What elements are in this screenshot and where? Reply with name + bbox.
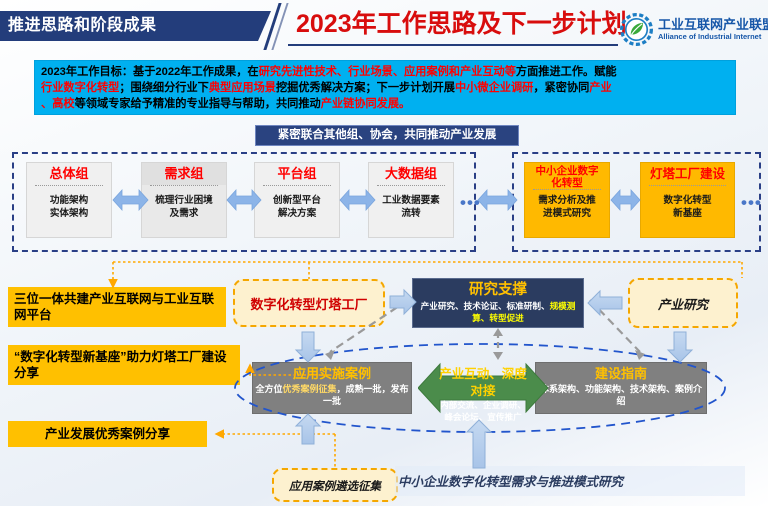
- group-box-overall[interactable]: 总体组 功能架构 实体架构: [26, 162, 112, 238]
- research-support-subtitle: 产业研究、技术论证、标准研制、规模测算、转型促进: [413, 300, 583, 324]
- gray-arrow-head-up: [493, 328, 503, 336]
- green-arrow-title: 产业互动、深度对接: [438, 366, 528, 400]
- group-box-platform[interactable]: 平台组 创新型平台 解决方案: [254, 162, 340, 238]
- green-arrow-sub: 内部交流、企业调研、峰会论坛、宣传推广: [438, 400, 528, 423]
- goal-l1-a: 2023年工作目标：基于2022年工作成果，在: [41, 66, 259, 78]
- group-body: 创新型平台 解决方案: [255, 186, 339, 220]
- group-body: 数字化转型 新基座: [641, 186, 734, 220]
- goal-l2-hl1: 行业数字化转型: [41, 82, 119, 94]
- gear-leaf-logo-icon: [620, 13, 653, 46]
- gray-box-title: 应用实施案例: [253, 363, 411, 383]
- g1-sub-a: 全方位: [255, 384, 282, 394]
- slide-canvas: 推进思路和阶段成果 2023年工作思路及下一步计划 工业互联网产业联盟 Alli…: [0, 0, 768, 506]
- group-title: 灯塔工厂建设: [641, 163, 734, 185]
- node-case-selection[interactable]: 应用案例遴选征集: [272, 468, 398, 502]
- yellow-bar-platform-coconstruction[interactable]: 三位一体共建产业互联网与工业互联网平台: [8, 287, 226, 327]
- logo-text-cn: 工业互联网产业联盟: [658, 14, 768, 33]
- gray-box-application-cases[interactable]: 应用实施案例 全方位优秀案例征集，成熟一批，发布一批: [252, 362, 412, 414]
- group-box-bigdata[interactable]: 大数据组 工业数据要素 流转: [368, 162, 454, 238]
- gray-arrow-head-right: [635, 350, 645, 360]
- gray-box-title: 建设指南: [536, 363, 706, 383]
- ellipsis-right: •••: [741, 198, 762, 208]
- goal-l3-hl2: 产业链协同发展。: [321, 98, 411, 110]
- yellow-bar-new-base-sharing[interactable]: “数字化转型新基座”助力灯塔工厂建设分享: [8, 345, 240, 385]
- group-title: 大数据组: [369, 163, 453, 185]
- group-box-demand[interactable]: 需求组 梳理行业困境 及需求: [141, 162, 227, 238]
- g1-sub-highlight: 优秀案例征集: [282, 384, 336, 394]
- goal-l2-hl2: 典型应用场景: [209, 82, 276, 94]
- goal-l1-b: 方面推进工作。赋能: [516, 66, 617, 78]
- gray-arrow-head-down: [493, 352, 503, 360]
- group-body: 梳理行业困境 及需求: [142, 186, 226, 220]
- group-box-sme-digital[interactable]: 中小企业数字 化转型 需求分析及推 进模式研究: [524, 162, 610, 238]
- goal-line-2: 行业数字化转型；围绕细分行业下典型应用场景挖掘优秀解决方案；下一步计划开展中小微…: [41, 80, 730, 96]
- group-body: 功能架构 实体架构: [27, 186, 111, 220]
- goal-l3-hl1: 、高校: [41, 98, 75, 110]
- node-label: 产业研究: [658, 298, 708, 312]
- gray-arrow-head-left: [325, 350, 335, 360]
- group-title: 中小企业数字 化转型: [525, 163, 609, 189]
- node-label: 数字化转型灯塔工厂: [250, 297, 367, 312]
- ellipsis-left: •••: [460, 198, 481, 208]
- node-digital-lighthouse-factory[interactable]: 数字化转型灯塔工厂: [233, 279, 385, 327]
- rs-sub-a: 产业研究、技术论证、标准研制、: [421, 301, 550, 311]
- goal-statement-box: 2023年工作目标：基于2022年工作成果，在研究先进性技术、行业场景、应用案例…: [34, 60, 736, 115]
- header-band-label: 推进思路和阶段成果: [8, 13, 258, 39]
- group-title: 总体组: [27, 163, 111, 185]
- g2-sub-a: 体系架构、功能架构、技术架构、案例介绍: [540, 384, 702, 406]
- research-support-box[interactable]: 研究支撑 产业研究、技术论证、标准研制、规模测算、转型促进: [412, 278, 584, 328]
- gray-box-subtitle: 全方位优秀案例征集，成熟一批，发布一批: [253, 383, 411, 407]
- aii-logo: 工业互联网产业联盟 Alliance of Industrial Interne…: [620, 10, 765, 50]
- group-body: 工业数据要素 流转: [369, 186, 453, 220]
- node-industry-research[interactable]: 产业研究: [628, 278, 738, 328]
- goal-l2-hl4: 产业: [589, 82, 611, 94]
- goal-l1-highlight: 研究先进性技术、行业场景、应用案例和产业互动等: [259, 66, 516, 78]
- join-banner: 紧密联合其他组、协会，共同推动产业发展: [255, 125, 519, 146]
- group-body: 需求分析及推 进模式研究: [525, 190, 609, 220]
- bottom-caption: 中小企业数字化转型需求与推进模式研究: [398, 470, 738, 494]
- node-label: 应用案例遴选征集: [289, 481, 381, 493]
- group-title: 平台组: [255, 163, 339, 185]
- goal-l2-hl3: 中小微企业调研: [455, 82, 533, 94]
- goal-l2-a: ；围绕细分行业下: [119, 82, 209, 94]
- green-double-arrow-industry-interaction[interactable]: 产业互动、深度对接 内部交流、企业调研、峰会论坛、宣传推广: [418, 360, 548, 416]
- goal-line-1: 2023年工作目标：基于2022年工作成果，在研究先进性技术、行业场景、应用案例…: [41, 64, 730, 80]
- green-arrow-label: 产业互动、深度对接 内部交流、企业调研、峰会论坛、宣传推广: [438, 366, 528, 423]
- goal-line-3: 、高校等领域专家给予精准的专业指导与帮助，共同推动产业链协同发展。: [41, 96, 730, 112]
- g1-sub-b: ，成熟一批，发布一批: [323, 384, 409, 406]
- yellow-bar-case-sharing[interactable]: 产业发展优秀案例分享: [8, 421, 207, 447]
- page-title: 2023年工作思路及下一步计划: [296, 8, 616, 40]
- header-rule: [288, 44, 618, 46]
- group-title: 需求组: [142, 163, 226, 185]
- goal-l3-a: 等领域专家给予精准的专业指导与帮助，共同推动: [75, 98, 321, 110]
- research-support-title: 研究支撑: [413, 279, 583, 300]
- group-box-lighthouse[interactable]: 灯塔工厂建设 数字化转型 新基座: [640, 162, 735, 238]
- gray-box-subtitle: 体系架构、功能架构、技术架构、案例介绍: [536, 383, 706, 407]
- goal-l2-c: ，紧密协同: [533, 82, 589, 94]
- logo-text-en: Alliance of Industrial Internet: [658, 32, 761, 41]
- goal-l2-b: 挖掘优秀解决方案；下一步计划开展: [276, 82, 455, 94]
- gray-box-construction-guide[interactable]: 建设指南 体系架构、功能架构、技术架构、案例介绍: [535, 362, 707, 414]
